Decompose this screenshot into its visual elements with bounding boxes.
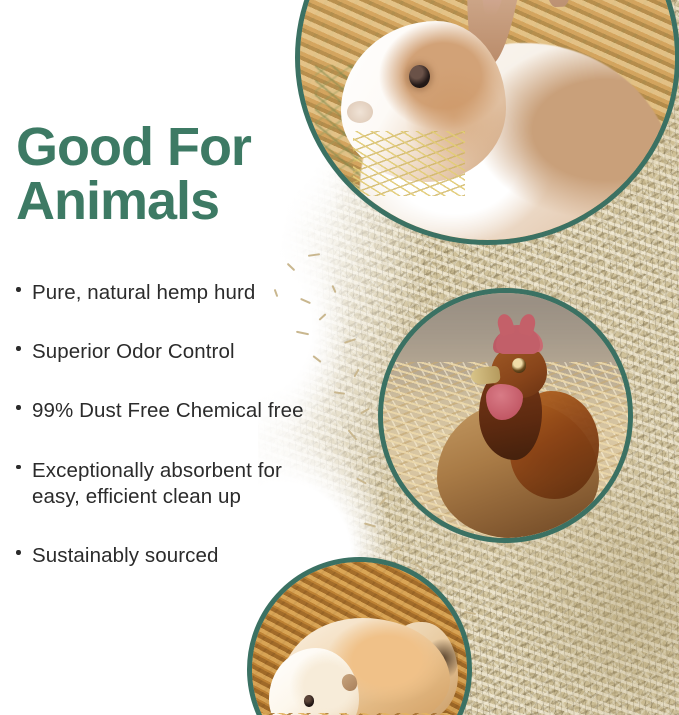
rabbit-hay-strands (353, 131, 466, 197)
rabbit-eye (409, 65, 430, 88)
chicken-comb (496, 325, 540, 354)
feature-bullet-list: Pure, natural hemp hurd Superior Odor Co… (14, 280, 344, 569)
chicken-eye (512, 358, 527, 373)
white-bottom-area (0, 595, 250, 715)
bullet-dot-icon (16, 405, 21, 410)
bullet-text: 99% Dust Free Chemical free (32, 399, 304, 422)
bullet-text: Pure, natural hemp hurd (32, 281, 255, 304)
list-item: Superior Odor Control (14, 339, 344, 365)
headline-line-1: Good For (16, 117, 251, 177)
photo-guinea-pig (247, 557, 472, 715)
bullet-dot-icon (16, 287, 21, 292)
list-item: 99% Dust Free Chemical free (14, 398, 344, 424)
bullet-text: Sustainably sourced (32, 544, 219, 567)
list-item: Pure, natural hemp hurd (14, 280, 344, 306)
feature-copy: Good For Animals Pure, natural hemp hurd… (14, 120, 344, 569)
headline-line-2: Animals (16, 174, 344, 228)
list-item: Exceptionally absorbent for easy, effici… (14, 458, 344, 510)
bullet-text: Superior Odor Control (32, 340, 235, 363)
bullet-dot-icon (16, 346, 21, 351)
bullet-dot-icon (16, 550, 21, 555)
photo-chicken (378, 288, 633, 543)
bullet-dot-icon (16, 465, 21, 470)
page-title: Good For Animals (16, 120, 344, 228)
guinea-pig-eye (304, 695, 315, 707)
list-item: Sustainably sourced (14, 543, 344, 569)
product-feature-panel: Good For Animals Pure, natural hemp hurd… (0, 0, 679, 715)
bullet-text-line-2: easy, efficient clean up (32, 484, 344, 510)
bullet-text: Exceptionally absorbent for (32, 459, 282, 482)
photo-rabbit (295, 0, 679, 245)
